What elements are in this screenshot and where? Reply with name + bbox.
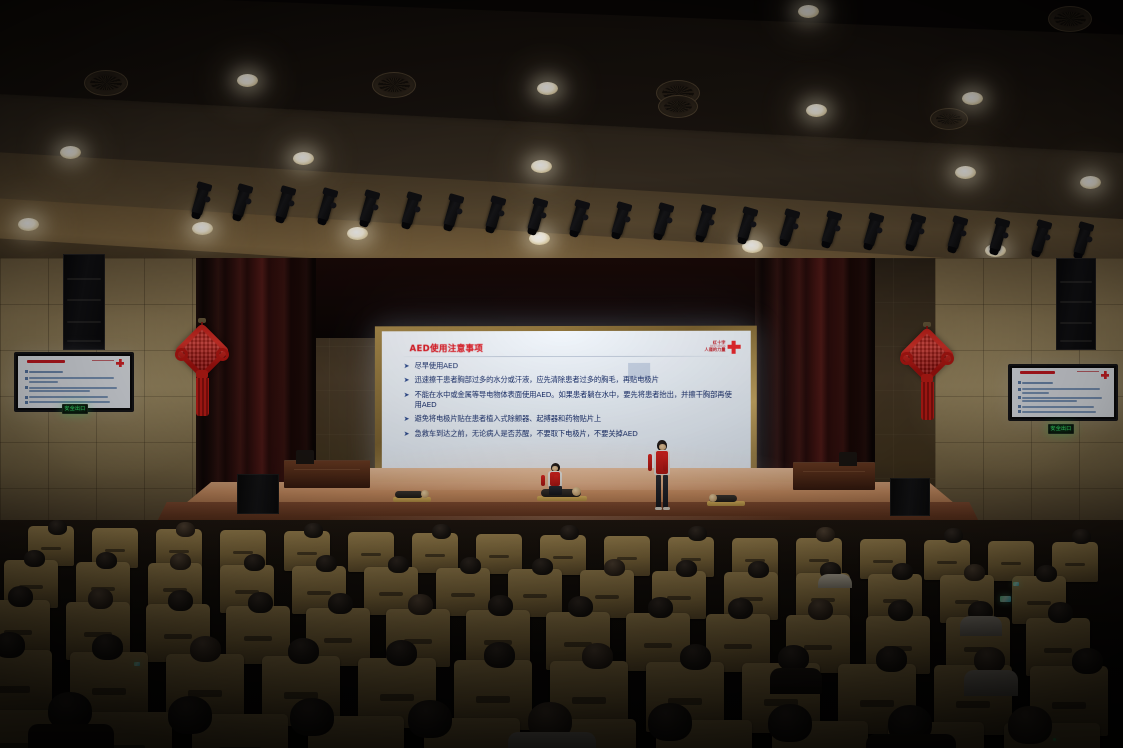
exit-sign-label: 安全出口 — [1050, 427, 1071, 432]
ceiling-downlight — [60, 146, 81, 159]
ceiling-downlight — [798, 5, 819, 18]
left-display-content — [18, 356, 130, 408]
audience-head — [168, 696, 212, 734]
audience-head — [288, 638, 319, 664]
audience-shoulders — [866, 734, 956, 748]
audience-head — [604, 559, 625, 576]
audience-seating — [0, 520, 1123, 748]
ceiling-downlight — [962, 92, 983, 105]
hvac-diffuser-icon — [930, 108, 968, 130]
audience-head — [1072, 529, 1091, 544]
red-cross-logo-icon — [1092, 371, 1109, 374]
phone-indicator-light — [1053, 738, 1056, 741]
projection-screen: AED使用注意事项 红十字 RED CROSS 人道的力量 ➤ 尽早使用AED … — [375, 326, 757, 485]
audience-head — [96, 552, 117, 569]
audience-head — [1008, 706, 1052, 744]
ceiling-downlight — [192, 222, 213, 235]
audience-head — [1048, 602, 1073, 623]
audience-head — [748, 561, 769, 578]
floor-speaker-right — [890, 478, 930, 516]
presenter-shoe — [663, 507, 670, 510]
wall-speaker-left — [63, 254, 105, 350]
ceiling-downlight — [293, 152, 314, 165]
logo-line-3: 人道的力量 — [704, 348, 725, 352]
podium-left — [284, 460, 370, 488]
right-side-display[interactable] — [1008, 364, 1118, 421]
audience-head — [816, 527, 835, 542]
podium-chair-left — [296, 450, 314, 464]
ceiling-downlight — [955, 166, 976, 179]
slide-bullet: ➤ 尽早使用AED — [404, 361, 739, 372]
audience-head — [388, 556, 409, 573]
presenter-shoe — [655, 507, 662, 510]
audience-head — [432, 524, 451, 539]
audience-head — [768, 704, 812, 742]
presenter-arm — [554, 475, 558, 486]
chinese-knot-left — [178, 318, 226, 418]
audience-head — [0, 632, 25, 658]
bullet-text: 避免将电极片贴在患者植入式除颤器、起搏器和药物贴片上 — [415, 414, 602, 424]
audience-head — [88, 588, 113, 609]
slide-bullet-list: ➤ 尽早使用AED ➤ 迅速擦干患者胸部过多的水分或汗液，应先清除患者过多的胸毛… — [404, 361, 739, 472]
hvac-diffuser-icon — [372, 72, 416, 98]
audience-head — [728, 598, 753, 619]
ceiling-downlight — [347, 227, 368, 240]
exit-sign-label: 安全出口 — [64, 407, 85, 412]
exit-sign-left: 安全出口 — [62, 404, 88, 414]
audience-shoulders — [818, 574, 852, 588]
audience-head — [190, 636, 221, 662]
audience-head — [688, 526, 707, 541]
audience-head — [888, 600, 913, 621]
audience-head — [964, 564, 985, 581]
audience-head — [290, 698, 334, 736]
left-side-display[interactable] — [14, 352, 134, 412]
audience-head — [568, 596, 593, 617]
right-display-content — [1012, 368, 1114, 417]
audience-shoulders — [508, 732, 596, 748]
audience-head — [170, 553, 191, 570]
audience-head — [1036, 565, 1057, 582]
audience-head — [944, 528, 963, 543]
audience-head — [48, 520, 67, 535]
podium-right — [793, 462, 875, 490]
slide-title-divider — [404, 356, 729, 357]
audience-head — [808, 599, 833, 620]
bullet-text: 尽早使用AED — [415, 361, 458, 371]
presenter-legs — [663, 475, 668, 508]
presenter-arm — [648, 454, 652, 471]
manikin-head-right — [709, 494, 717, 502]
audience-head — [892, 563, 913, 580]
audience-head — [560, 525, 579, 540]
ceiling-downlight — [237, 74, 258, 87]
floor-speaker-left — [237, 474, 279, 514]
audience-head — [316, 555, 337, 572]
phone-screen — [1000, 596, 1011, 602]
audience-head — [168, 590, 193, 611]
ceiling-downlight — [531, 160, 552, 173]
bullet-marker-icon: ➤ — [404, 429, 411, 439]
audience-shoulders — [28, 724, 114, 748]
audience-head — [248, 592, 273, 613]
audience-head — [532, 558, 553, 575]
presenter-legs — [656, 475, 661, 508]
audience-head — [176, 522, 195, 537]
exit-sign-right: 安全出口 — [1048, 424, 1074, 434]
red-cross-icon — [728, 340, 741, 353]
audience-head — [460, 557, 481, 574]
audience-head — [676, 560, 697, 577]
slide-bullet: ➤ 急救车到达之前，无论病人是否苏醒，不要取下电极片，不要关掉AED — [404, 429, 739, 440]
seat[interactable] — [412, 533, 458, 573]
audience-shoulders — [770, 668, 822, 694]
ceiling-downlight — [18, 218, 39, 231]
audience-head — [876, 646, 907, 672]
cpr-manikin-left — [395, 491, 423, 498]
bullet-text: 不能在水中或金属等导电物体表面使用AED。如果患者躺在水中，要先将患者抬出，并擦… — [415, 390, 739, 411]
audience-head — [24, 550, 45, 567]
audience-head — [680, 644, 711, 670]
manikin-head-left — [421, 490, 429, 498]
bullet-marker-icon: ➤ — [404, 375, 411, 385]
bullet-marker-icon: ➤ — [404, 414, 411, 424]
audience-shoulders — [964, 670, 1018, 696]
audience-head — [648, 597, 673, 618]
audience-head — [408, 700, 452, 738]
audience-head — [484, 642, 515, 668]
ceiling-downlight — [537, 82, 558, 95]
audience-head — [386, 640, 417, 666]
audience-head — [648, 703, 692, 741]
slide-surface: AED使用注意事项 红十字 RED CROSS 人道的力量 ➤ 尽早使用AED … — [382, 331, 751, 478]
audience-head — [244, 554, 265, 571]
manikin-head-center — [572, 487, 581, 496]
slide-title: AED使用注意事项 — [410, 342, 484, 354]
display-title-bar — [27, 360, 65, 363]
auditorium-scene: 安全出口 安全出口 AED使用注意事项 红十字 RED CR — [0, 0, 1123, 748]
bullet-text: 急救车到达之前，无论病人是否苏醒，不要取下电极片，不要关掉AED — [415, 429, 638, 440]
phone-screen — [134, 662, 140, 666]
slide-bullet: ➤ 迅速擦干患者胸部过多的水分或汗液，应先清除患者过多的胸毛，再贴电极片 — [404, 375, 739, 386]
presenter-kneeling — [542, 463, 568, 495]
presenter-arm — [541, 475, 545, 486]
slide-red-cross-logo: 红十字 RED CROSS 人道的力量 — [704, 339, 740, 355]
logo-line-2: RED CROSS — [710, 345, 725, 348]
hvac-diffuser-icon — [1048, 6, 1092, 32]
audience-head — [1072, 648, 1103, 674]
audience-head — [92, 634, 123, 660]
presenter-legs — [549, 486, 562, 495]
audience-head — [488, 595, 513, 616]
audience-head — [582, 643, 613, 669]
display-title-bar — [1020, 371, 1055, 374]
audience-head — [408, 594, 433, 615]
red-cross-logo-icon — [105, 359, 124, 363]
podium-chair-right — [839, 452, 857, 466]
bullet-text: 迅速擦干患者胸部过多的水分或汗液，应先清除患者过多的胸毛，再贴电极片 — [415, 375, 659, 385]
bullet-marker-icon: ➤ — [404, 361, 411, 371]
hvac-diffuser-icon — [658, 95, 698, 118]
audience-shoulders — [960, 616, 1002, 636]
audience-head — [8, 586, 33, 607]
presenter-standing — [650, 440, 674, 520]
presenter-arm — [663, 454, 667, 471]
audience-head — [304, 523, 323, 538]
chinese-knot-right — [903, 322, 951, 422]
hvac-diffuser-icon — [84, 70, 128, 96]
bullet-marker-icon: ➤ — [404, 390, 411, 411]
wall-speaker-right — [1056, 258, 1096, 350]
ceiling-downlight — [1080, 176, 1101, 189]
seat[interactable] — [988, 541, 1034, 581]
slide-bullet: ➤ 避免将电极片贴在患者植入式除颤器、起搏器和药物贴片上 — [404, 414, 739, 424]
ceiling-downlight — [806, 104, 827, 117]
audience-head — [328, 593, 353, 614]
slide-bullet: ➤ 不能在水中或金属等导电物体表面使用AED。如果患者躺在水中，要先将患者抬出，… — [404, 390, 739, 411]
phone-screen — [1013, 582, 1019, 586]
